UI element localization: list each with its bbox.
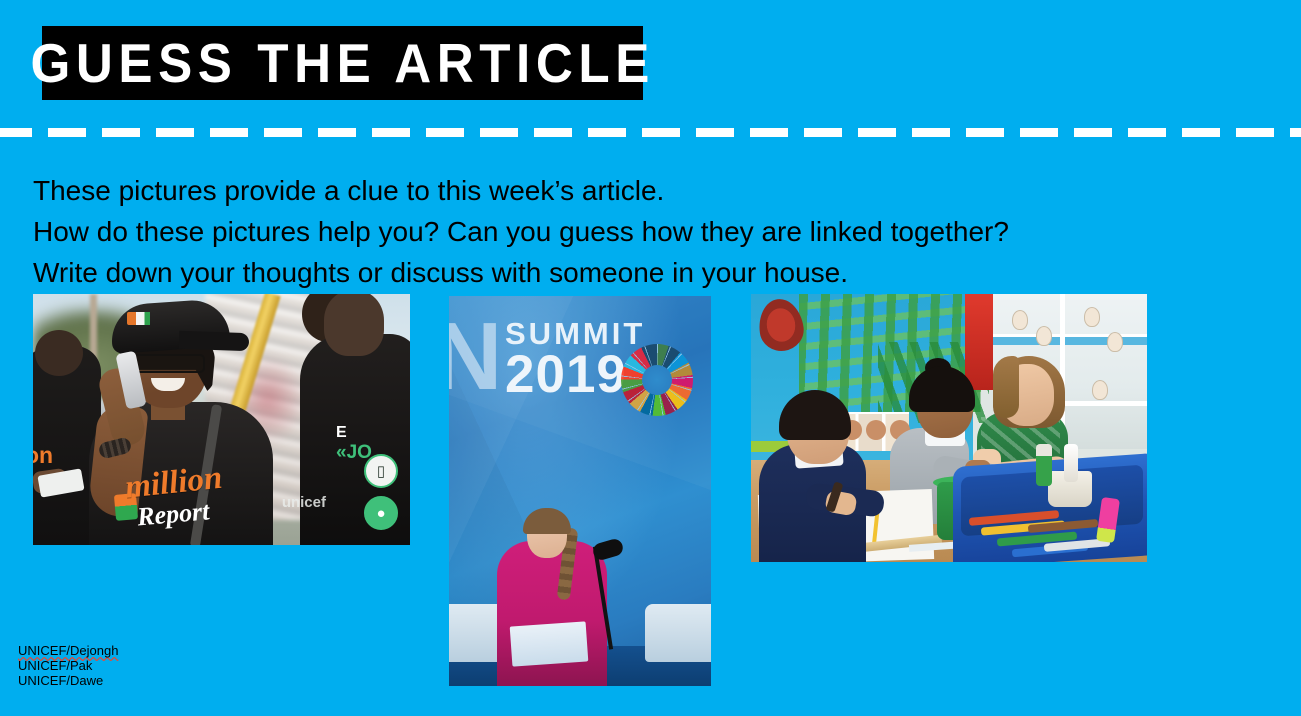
photo1-right-shirt-letter: E bbox=[336, 424, 347, 441]
photo3-hanging-craft-6 bbox=[1092, 380, 1108, 400]
photo1-unicef-logo-text: unicef bbox=[282, 494, 326, 511]
photo3-red-curtain bbox=[965, 294, 993, 390]
photo-classroom-children bbox=[751, 294, 1147, 562]
photo2-chair-right bbox=[645, 604, 711, 662]
photo-ureport-volunteer: on E «JO ▯ ● unicef bbox=[33, 294, 410, 545]
photo1-left-bystander-head bbox=[35, 330, 83, 376]
photo3-hanging-craft-3 bbox=[1084, 307, 1100, 327]
photo1-woman-glasses bbox=[133, 354, 205, 373]
slide-canvas: GUESS THE ARTICLE These pictures provide… bbox=[0, 0, 1301, 716]
photo3-hanging-craft-4 bbox=[1107, 332, 1123, 352]
slide-title-box: GUESS THE ARTICLE bbox=[42, 26, 643, 100]
instruction-line-3: Write down your thoughts or discuss with… bbox=[33, 252, 1183, 293]
photo2-speech-paper bbox=[510, 621, 589, 666]
credit-line-3: UNICEF/Dawe bbox=[18, 673, 118, 688]
photo1-cap-ureport-logo bbox=[127, 312, 167, 325]
photo2-backdrop-year-text: 2019 bbox=[505, 344, 627, 405]
photo1-cap-brim bbox=[179, 331, 250, 351]
photo3-poster-face-2 bbox=[866, 420, 886, 440]
photo3-window-blue-strip bbox=[993, 337, 1147, 345]
photo3-glue-stick-1 bbox=[1036, 444, 1052, 486]
photo-un-summit-speaker: N SUMMIT 2019 bbox=[449, 296, 711, 686]
photo3-teacher-hair-front bbox=[993, 356, 1019, 418]
instruction-line-1: These pictures provide a clue to this we… bbox=[33, 170, 1183, 211]
instruction-line-2: How do these pictures help you? Can you … bbox=[33, 211, 1183, 252]
credit-line-2: UNICEF/Pak bbox=[18, 658, 118, 673]
photo3-hanging-craft-2 bbox=[1036, 326, 1052, 346]
sdg-wheel-icon bbox=[621, 344, 693, 416]
photo1-messenger-badge-icon: ● bbox=[364, 496, 398, 530]
photo3-glue-stick-2 bbox=[1064, 444, 1078, 482]
photo2-backdrop-letter: N bbox=[449, 302, 500, 412]
credit-line-1: UNICEF/Dejongh bbox=[18, 643, 118, 658]
photo1-phone-badge-icon: ▯ bbox=[364, 454, 398, 488]
photo3-hanging-craft-1 bbox=[1012, 310, 1028, 330]
sdg-wheel-center bbox=[642, 365, 672, 395]
photo1-right-bystander-head bbox=[324, 294, 384, 356]
page-title: GUESS THE ARTICLE bbox=[30, 36, 654, 91]
image-credits: UNICEF/Dejongh UNICEF/Pak UNICEF/Dawe bbox=[18, 643, 118, 688]
instruction-text-block: These pictures provide a clue to this we… bbox=[33, 170, 1183, 293]
photo1-left-shirt-text: on bbox=[33, 442, 73, 466]
dashed-divider bbox=[0, 128, 1301, 137]
